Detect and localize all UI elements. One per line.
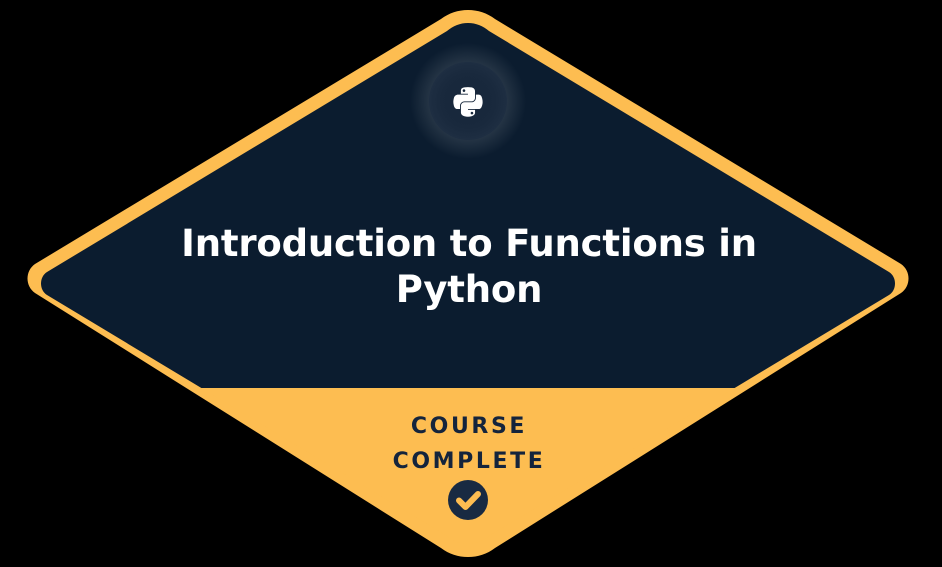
check-circle-icon bbox=[448, 480, 488, 520]
course-completion-badge: Introduction to Functions in Python COUR… bbox=[0, 0, 942, 567]
check-circle-background bbox=[448, 480, 488, 520]
badge-graphic bbox=[0, 0, 942, 567]
badge-lower-fill bbox=[0, 388, 942, 567]
